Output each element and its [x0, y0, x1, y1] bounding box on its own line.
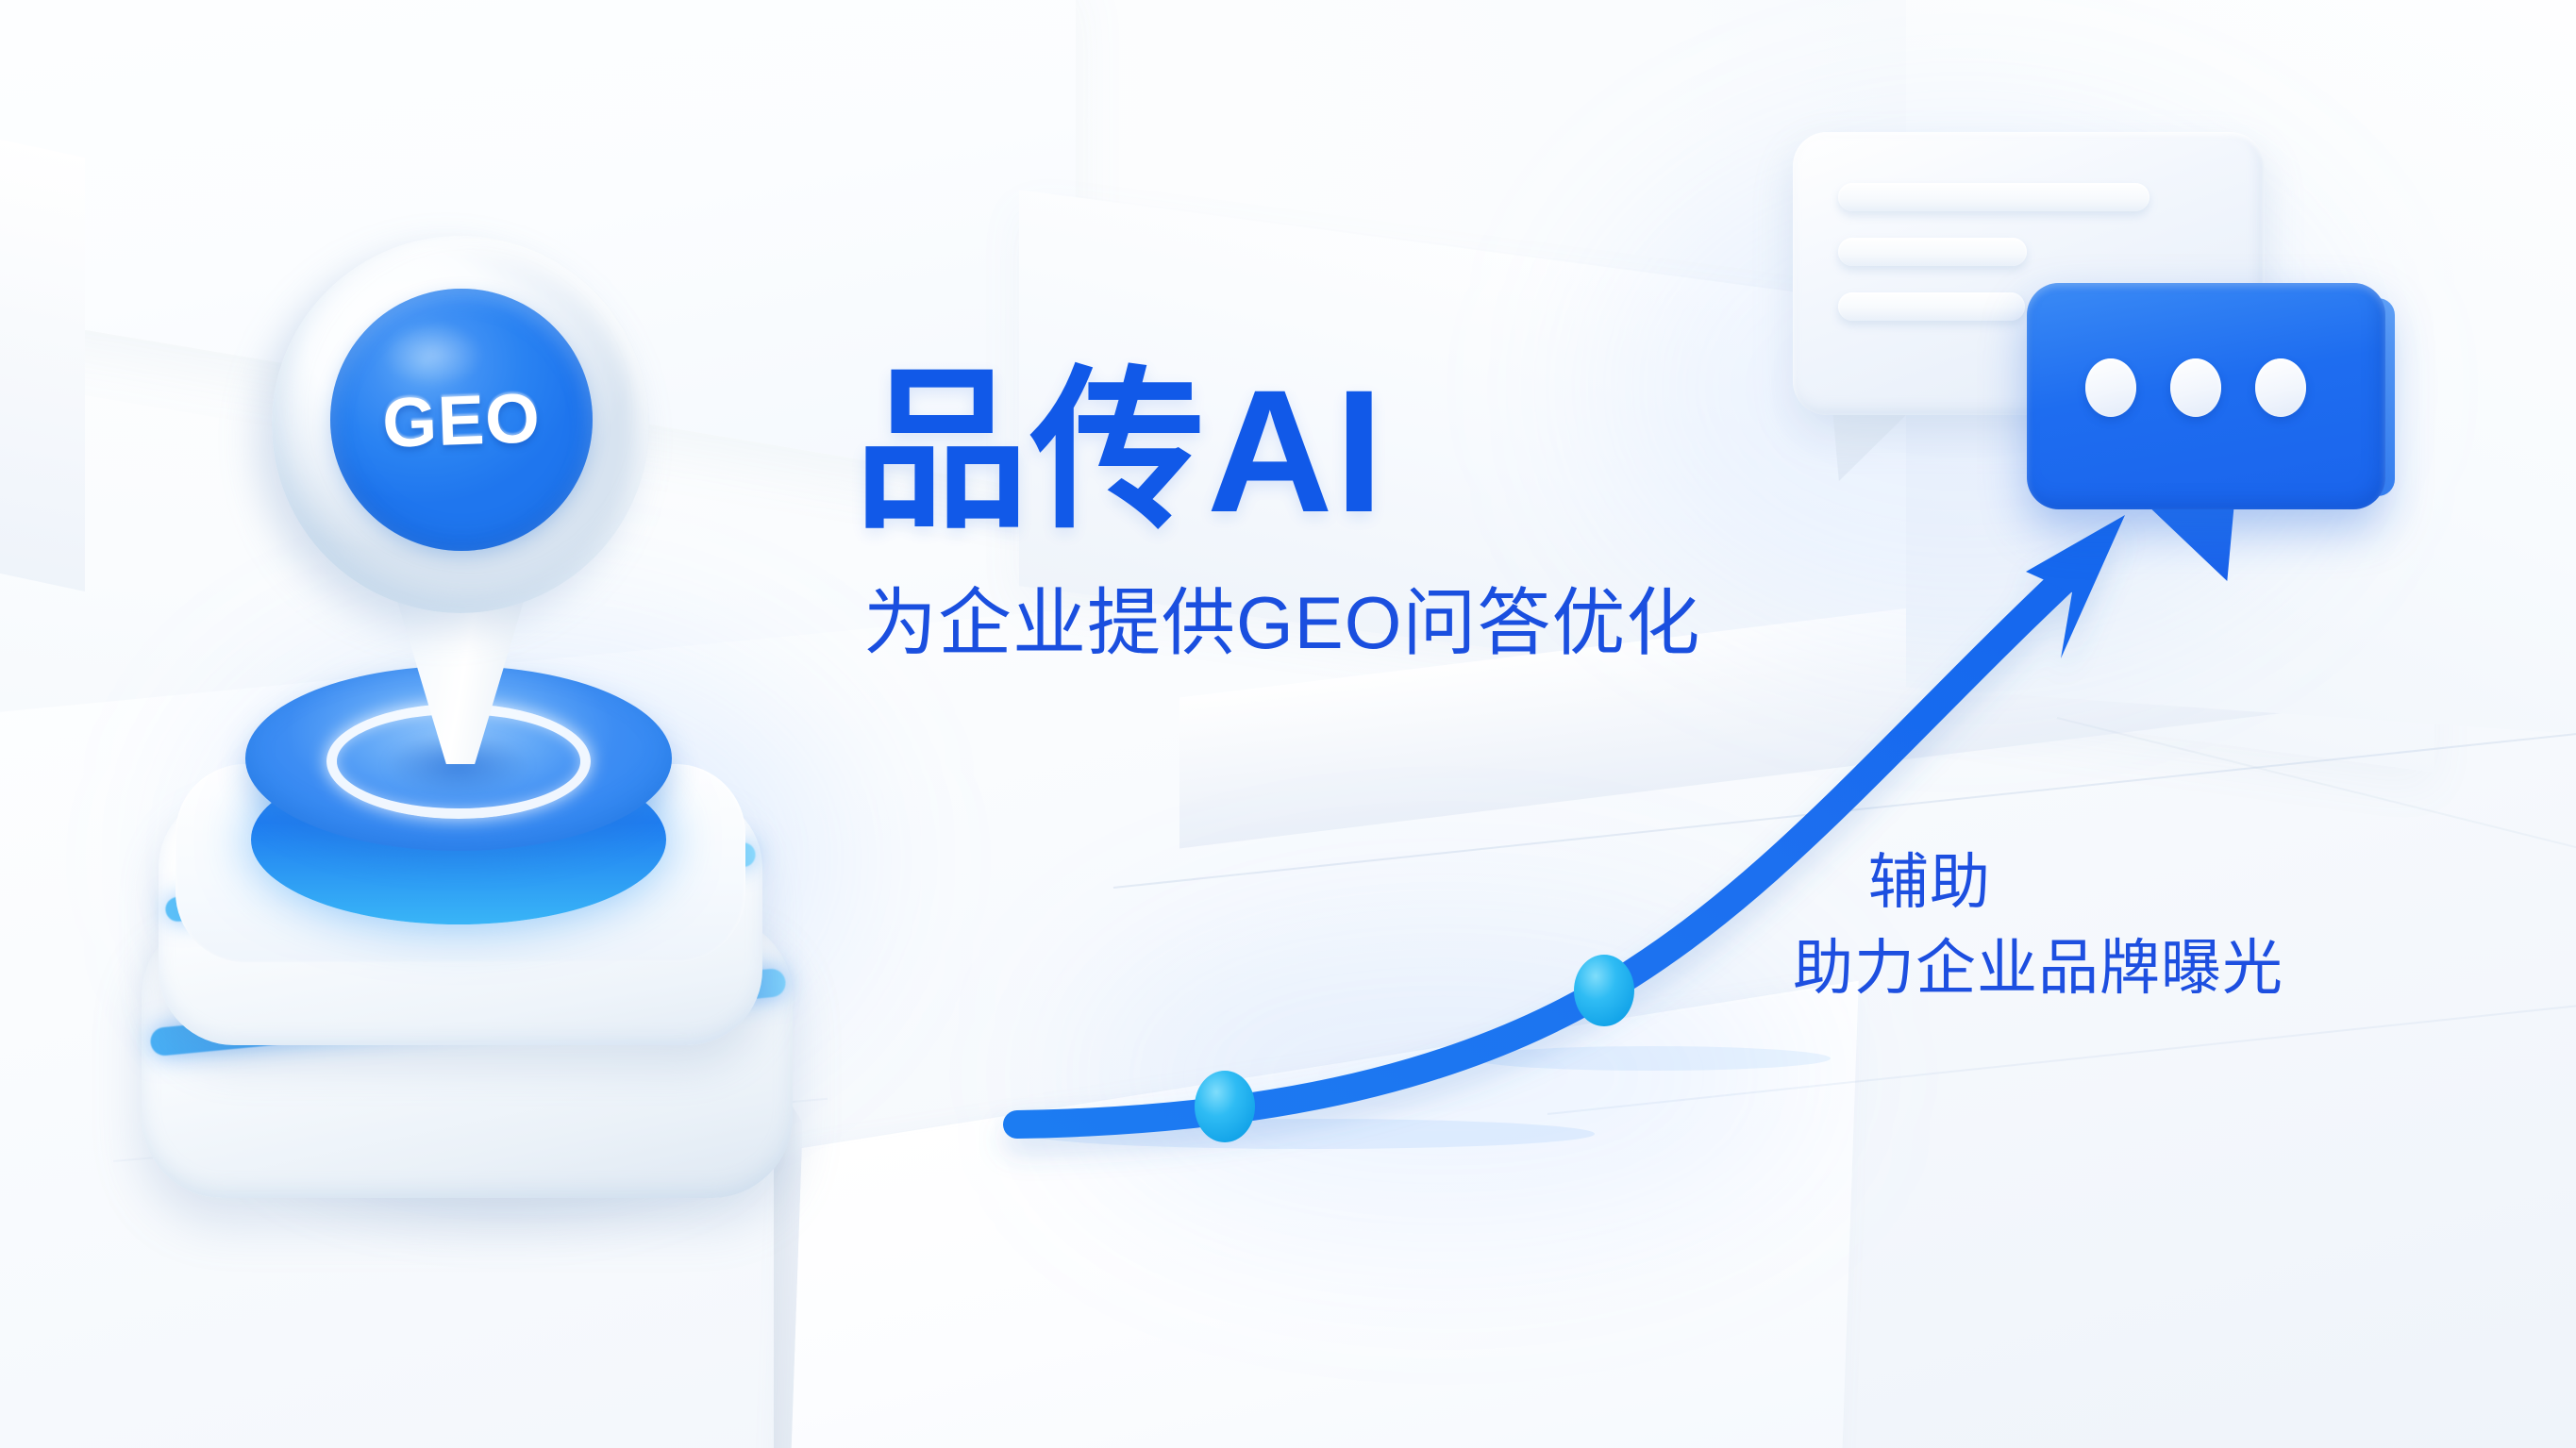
location-pin-icon: GEO — [272, 236, 649, 764]
promo-banner: GEO — [0, 0, 2576, 1448]
chat-bubble-text-line — [1838, 238, 2027, 266]
curve-node — [1195, 1071, 1255, 1142]
typing-dot-icon — [2170, 358, 2221, 417]
headline-block: 品传AI 为企业提供GEO问答优化 — [854, 363, 1854, 663]
caption-line-1: 辅助 — [1868, 840, 2510, 925]
caption-line-2: 助力企业品牌曝光 — [1793, 925, 2510, 1011]
typing-dot-icon — [2255, 358, 2306, 417]
page-title: 品传AI — [854, 363, 1854, 541]
chat-bubble-text-line — [1838, 183, 2149, 211]
chat-bubbles-group — [1774, 113, 2491, 604]
pin-label: GEO — [326, 284, 597, 556]
curve-node — [1574, 955, 1634, 1026]
geo-pin-pedestal-group: GEO — [142, 443, 972, 1292]
typing-dot-icon — [2085, 358, 2136, 417]
page-subtitle: 为企业提供GEO问答优化 — [863, 583, 1854, 664]
caption-block: 辅助 助力企业品牌曝光 — [1793, 840, 2510, 1011]
chat-bubble-typing-tail — [2144, 502, 2234, 581]
background-panel-left-slab — [0, 125, 85, 591]
chat-bubble-text-line — [1838, 292, 2025, 321]
